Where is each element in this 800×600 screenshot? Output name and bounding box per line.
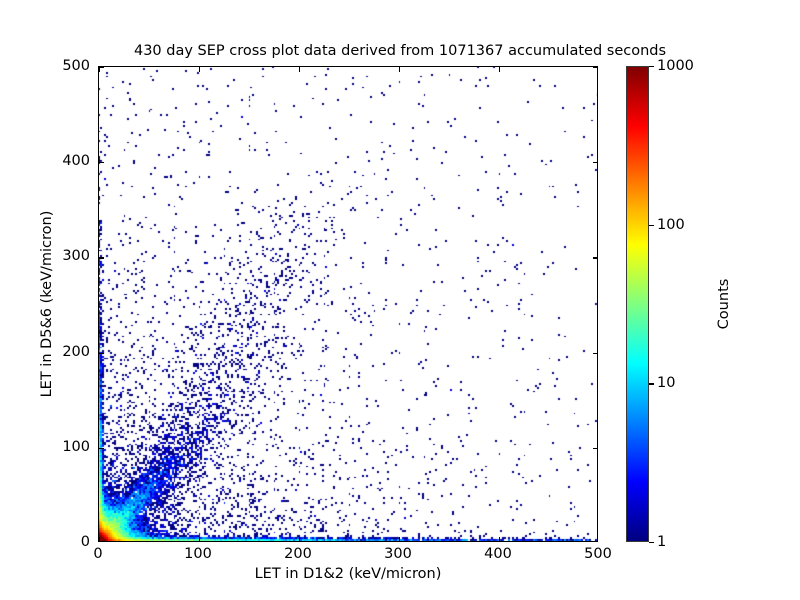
y-tick-400 [99, 162, 104, 163]
x-tick-label-300: 300 [384, 546, 412, 562]
x-tick-300 [399, 537, 400, 542]
x-tick-top-300 [399, 67, 400, 72]
x-tick-label-500: 500 [584, 546, 612, 562]
x-tick-label-400: 400 [484, 546, 512, 562]
colorbar-tick-label-10: 10 [657, 375, 675, 391]
colorbar-tick-label-1: 1 [657, 534, 666, 550]
colorbar-tick-10 [649, 383, 654, 384]
x-tick-top-200 [299, 67, 300, 72]
y-tick-label-100: 100 [62, 439, 90, 455]
x-tick-label-200: 200 [284, 546, 312, 562]
x-axis-label: LET in D1&2 (keV/micron) [98, 566, 598, 582]
x-tick-100 [199, 537, 200, 542]
x-tick-top-100 [199, 67, 200, 72]
colorbar[interactable]: 1101001000 [626, 66, 649, 542]
y-tick-right-100 [593, 448, 598, 449]
colorbar-tick-label-100: 100 [657, 217, 685, 233]
x-tick-200 [299, 537, 300, 542]
y-tick-500 [99, 67, 104, 68]
colorbar-label: Counts [714, 66, 734, 542]
y-tick-100 [99, 448, 104, 449]
y-tick-right-200 [593, 353, 598, 354]
y-tick-label-0: 0 [81, 534, 90, 550]
y-tick-label-300: 300 [62, 248, 90, 264]
colorbar-tick-label-1000: 1000 [657, 58, 694, 74]
x-tick-0 [99, 537, 100, 542]
y-tick-label-200: 200 [62, 344, 90, 360]
colorbar-tick-1 [649, 542, 654, 543]
y-tick-200 [99, 353, 104, 354]
density-scatter-canvas [99, 67, 598, 542]
x-tick-400 [499, 537, 500, 542]
y-tick-label-500: 500 [62, 58, 90, 74]
colorbar-gradient [626, 66, 649, 542]
x-tick-label-0: 0 [93, 546, 102, 562]
y-tick-right-300 [593, 257, 598, 258]
x-tick-top-400 [499, 67, 500, 72]
y-tick-label-400: 400 [62, 153, 90, 169]
y-tick-300 [99, 257, 104, 258]
scatter-plot-axes[interactable] [98, 66, 598, 542]
y-tick-right-500 [593, 67, 598, 68]
y-tick-right-400 [593, 162, 598, 163]
y-axis-label: LET in D5&6 (keV/micron) [36, 66, 58, 542]
colorbar-tick-1000 [649, 66, 654, 67]
colorbar-tick-100 [649, 225, 654, 226]
x-tick-label-100: 100 [184, 546, 212, 562]
matplotlib-figure: 430 day SEP cross plot data derived from… [0, 0, 800, 600]
